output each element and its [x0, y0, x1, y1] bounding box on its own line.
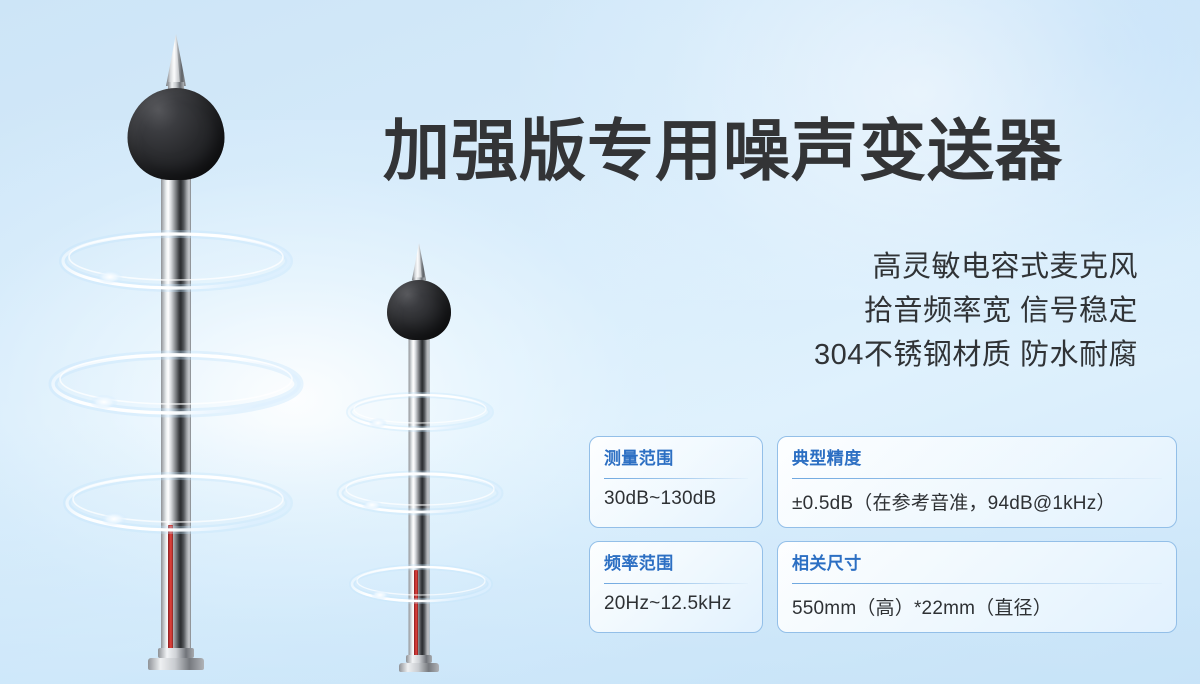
- subtitle-line-1: 高灵敏电容式麦克风: [518, 245, 1138, 289]
- spec-card-value: 20Hz~12.5kHz: [604, 593, 748, 615]
- spec-card-divider: [604, 583, 748, 584]
- spec-card-dimensions: 相关尺寸 550mm（高）*22mm（直径）: [777, 541, 1177, 633]
- subtitle-line-2: 拾音频率宽 信号稳定: [518, 289, 1138, 333]
- spec-card-title: 测量范围: [604, 450, 748, 469]
- spec-card-frequency-range: 频率范围 20Hz~12.5kHz: [589, 541, 763, 633]
- spec-card-value: 550mm（高）*22mm（直径）: [792, 593, 1162, 620]
- spec-card-grid: 测量范围 30dB~130dB 典型精度 ±0.5dB（在参考音准，94dB@1…: [589, 436, 1177, 633]
- spec-card-value: ±0.5dB（在参考音准，94dB@1kHz）: [792, 488, 1162, 515]
- spec-card-title: 典型精度: [792, 450, 1162, 469]
- spec-card-divider: [792, 583, 1162, 584]
- spec-card-value: 30dB~130dB: [604, 488, 748, 510]
- subtitle-list: 高灵敏电容式麦克风 拾音频率宽 信号稳定 304不锈钢材质 防水耐腐: [518, 245, 1138, 377]
- page-title: 加强版专用噪声变送器: [383, 118, 1063, 185]
- product-banner: 加强版专用噪声变送器 高灵敏电容式麦克风 拾音频率宽 信号稳定 304不锈钢材质…: [0, 0, 1200, 684]
- subtitle-line-3: 304不锈钢材质 防水耐腐: [518, 333, 1138, 377]
- spec-card-divider: [604, 478, 748, 479]
- spec-card-title: 相关尺寸: [792, 555, 1162, 574]
- spec-card-typical-accuracy: 典型精度 ±0.5dB（在参考音准，94dB@1kHz）: [777, 436, 1177, 528]
- spec-card-measurement-range: 测量范围 30dB~130dB: [589, 436, 763, 528]
- spec-card-title: 频率范围: [604, 555, 748, 574]
- spec-card-divider: [792, 478, 1162, 479]
